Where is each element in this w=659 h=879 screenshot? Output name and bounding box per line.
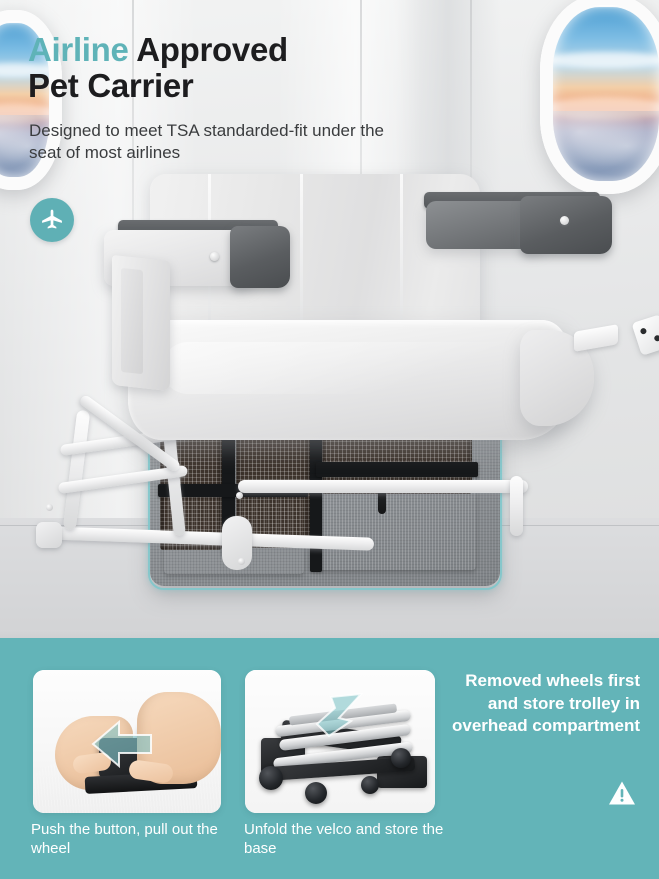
step-image-1 xyxy=(33,670,221,813)
frame-screw xyxy=(46,504,53,511)
airplane-badge xyxy=(30,198,74,242)
airplane-window-right xyxy=(540,0,659,194)
window-glint xyxy=(0,15,35,22)
headline-line-2: Pet Carrier xyxy=(28,68,448,104)
seat-frame-joint xyxy=(222,516,252,570)
subheading: Designed to meet TSA standarded-fit unde… xyxy=(29,120,389,164)
storage-note: Removed wheels first and store trolley i… xyxy=(435,670,640,738)
trolley-wheel xyxy=(391,748,411,768)
seat-belt-tab xyxy=(574,324,618,352)
seat-cushion xyxy=(128,320,568,440)
direction-arrow-icon xyxy=(309,688,367,742)
headline-rest: Approved xyxy=(129,31,288,68)
armrest-right xyxy=(424,192,614,264)
trolley-wheel xyxy=(361,776,379,794)
warning-triangle-icon xyxy=(608,780,636,806)
trolley-wheel xyxy=(305,782,327,804)
window-glint xyxy=(577,0,635,6)
page-title: Airline Approved Pet Carrier xyxy=(28,32,448,104)
direction-arrow-icon xyxy=(89,718,155,770)
seat-frame-joint xyxy=(36,522,62,548)
window-sky-view xyxy=(553,7,659,181)
trolley-wheel xyxy=(259,766,283,790)
airplane-icon xyxy=(39,207,65,233)
warning-triangle-badge xyxy=(608,780,636,806)
airline-seat-assembly: XS xyxy=(0,180,659,638)
hero-cabin-scene: XS xyxy=(0,0,659,638)
panel-divider xyxy=(0,630,659,638)
frame-screw xyxy=(236,492,243,499)
step-caption-2: Unfold the velco and store the base xyxy=(244,820,449,858)
step-image-2 xyxy=(245,670,435,813)
frame-screw xyxy=(238,558,245,565)
product-infographic: XS xyxy=(0,0,659,879)
tray-table-latch xyxy=(112,255,170,391)
seat-frame-tube xyxy=(510,476,523,536)
headline-line-1: Airline Approved xyxy=(28,32,448,68)
step-caption-1: Push the button, pull out the wheel xyxy=(31,820,231,858)
headline-accent: Airline xyxy=(28,31,129,68)
seat-frame-tube xyxy=(238,480,528,493)
seat-frame-tube xyxy=(63,410,91,531)
